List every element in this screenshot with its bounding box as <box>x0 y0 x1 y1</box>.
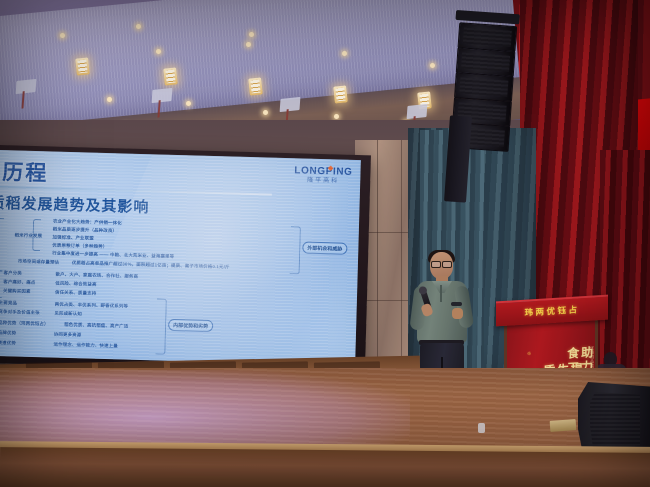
mindmap-row-detail: 农业产业化大趋势：产供销一体化 <box>53 219 122 227</box>
mindmap-row-label: 品种优势（玮两优钰占） <box>0 320 49 327</box>
mindmap-brace-right-internal <box>155 298 167 354</box>
projection-screen[interactable]: 定位历程 --优质稻发展趋势及其影响 LONGPING 隆平高科 稻米行业发展 … <box>0 150 361 366</box>
ceiling-downlight <box>334 114 339 119</box>
mindmap-row-label: 品牌优势 <box>0 330 16 337</box>
ceiling-spotlight <box>163 67 178 85</box>
ceiling-spotlight <box>248 77 263 95</box>
stage-small-object <box>478 423 485 433</box>
mindmap-row-detail: 见形成新认知 <box>54 311 82 318</box>
mindmap-row-detail: 优质原粮订单（多种趋势） <box>52 243 107 251</box>
mindmap-row-detail: 加强标准、产业联盟 <box>52 235 93 242</box>
ceiling-sprinkler-plate <box>280 97 301 112</box>
ceiling-downlight <box>246 42 251 47</box>
ceiling-downlight <box>342 51 347 56</box>
wristwatch-icon <box>451 302 462 306</box>
conference-stage-photo: 定位历程 --优质稻发展趋势及其影响 LONGPING 隆平高科 稻米行业发展 … <box>0 0 650 487</box>
ceiling-spotlight <box>75 57 90 75</box>
mindmap-row-label: 稻米行业发展 <box>15 232 43 239</box>
projection-screen-frame: 定位历程 --优质稻发展趋势及其影响 LONGPING 隆平高科 稻米行业发展 … <box>0 145 371 374</box>
mindmap-row-detail: 协同更多资源 <box>54 332 82 339</box>
mindmap-row-detail: 稻色优质、高抗稻瘟、高产广适 <box>64 322 128 330</box>
presenter-right-hand <box>452 308 463 319</box>
mindmap-chip-external: 外部机会和威胁 <box>302 241 347 254</box>
ceiling-downlight <box>156 49 161 54</box>
mindmap-row-detail: 运作理念、运作能力、快速上量 <box>53 342 117 350</box>
mindmap-row-label: 主要竞品 <box>0 300 17 307</box>
ceiling-downlight <box>249 32 254 37</box>
stage-front-panel <box>0 447 650 487</box>
ceiling-spotlight <box>333 85 348 103</box>
mindmap-row-detail: 优质稻占高单品推广超过30%，面积超过1亿亩；提质、离子市场价格0.1元/斤 <box>72 260 230 270</box>
logo-latin-text: LONGPING <box>294 166 352 178</box>
stage-monitor-grille <box>590 392 640 448</box>
mindmap-row-detail: 散户、大户、家庭农场、合作社、服务商 <box>55 272 138 280</box>
ceiling-downlight <box>430 63 435 68</box>
mindmap-row-label: 客户痛好、痛点 <box>3 279 35 286</box>
mindmap-row-detail: 行业集中度进一步提高 —— 中粮、北大荒米业、益海嘉里等 <box>52 251 174 260</box>
glasses-icon <box>431 261 452 266</box>
ceiling-downlight <box>136 24 141 29</box>
ceiling-sprinkler-plate <box>16 79 37 94</box>
podium-top-banner-text: 玮两优钰占 <box>504 302 600 320</box>
mindmap-chip-internal: 内部优势和劣势 <box>168 319 213 332</box>
mindmap-row-label: 市场空间或存量预估 <box>18 259 59 266</box>
slide-title: 定位历程 <box>0 155 49 188</box>
ceiling-downlight <box>60 33 65 38</box>
ceiling-downlight <box>186 101 191 106</box>
slide-mindmap: 稻米行业发展 农业产业化大趋势：产供销一体化 稻米品质逐步提升（品种改良） 加强… <box>5 216 345 357</box>
mindmap-row-detail: 稻米品质逐步提升（品种改良） <box>53 227 117 235</box>
ceiling-sprinkler-plate <box>407 104 428 119</box>
slide-subtitle: --优质稻发展趋势及其影响 <box>0 191 150 217</box>
ceiling-sprinkler-plate <box>152 88 173 103</box>
mindmap-row-label: 关键购买因素 <box>3 288 31 295</box>
mindmap-row-detail: 两优占类、丰优系列、野香优系列等 <box>55 302 129 310</box>
mindmap-row-detail: 低风险、综合效益高 <box>55 281 96 288</box>
mindmap-row-label: 渠道优势 <box>0 340 16 347</box>
mindmap-brace-left <box>0 218 4 272</box>
ceiling-downlight <box>263 110 268 115</box>
stage-floor-box <box>550 419 577 432</box>
longping-logo: LONGPING 隆平高科 <box>294 166 353 185</box>
mindmap-brace-right-external <box>290 226 301 274</box>
podium-emblem-icon: ❊ <box>527 351 531 357</box>
mindmap-row-label: 客户分类 <box>3 270 22 277</box>
mindmap-row-detail: 信任关系、质量支持 <box>55 290 96 297</box>
logo-chinese-text: 隆平高科 <box>294 177 352 185</box>
ceiling-downlight <box>107 97 112 102</box>
presenter-placket <box>440 285 442 302</box>
mindmap-row-label: 竞争对手及价值主张 <box>0 309 40 316</box>
